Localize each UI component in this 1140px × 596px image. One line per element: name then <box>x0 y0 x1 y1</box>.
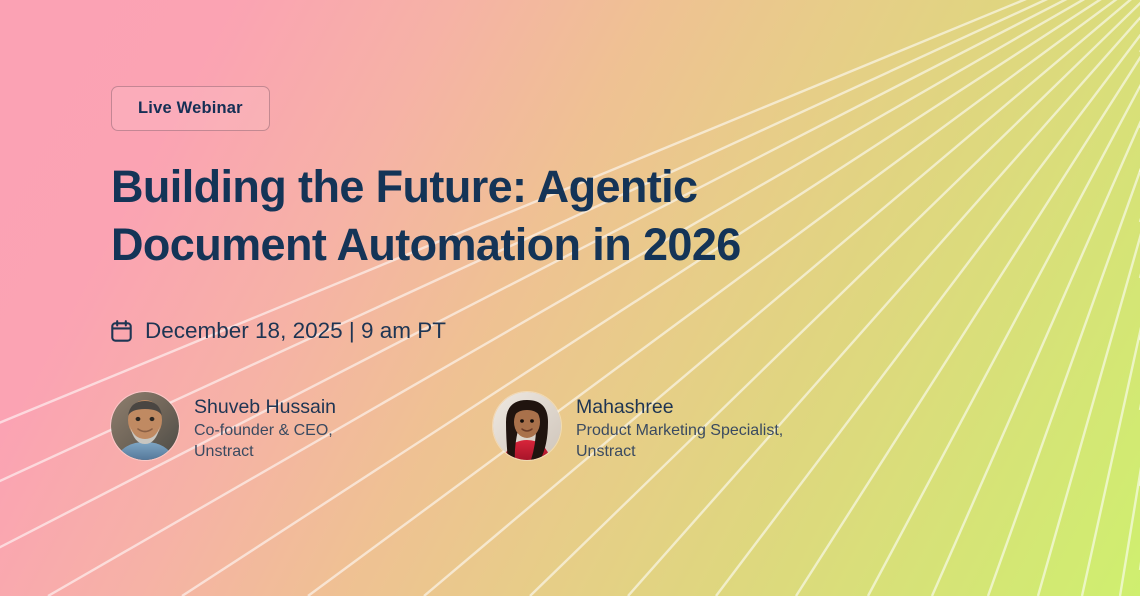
webinar-title-line-2: Document Automation in 2026 <box>111 216 911 274</box>
webinar-title-line-1: Building the Future: Agentic <box>111 158 911 216</box>
webinar-date-text: December 18, 2025 | 9 am PT <box>145 318 446 344</box>
speaker-avatar <box>111 392 179 460</box>
banner-content: Live Webinar Building the Future: Agenti… <box>111 0 1091 596</box>
speaker-text-block: Shuveb Hussain Co-founder & CEO, Unstrac… <box>194 392 336 462</box>
speaker-role-line-2: Unstract <box>194 441 336 462</box>
live-webinar-badge-label: Live Webinar <box>138 99 243 118</box>
speaker-avatar <box>493 392 561 460</box>
live-webinar-badge: Live Webinar <box>111 86 270 131</box>
webinar-title: Building the Future: Agentic Document Au… <box>111 158 911 274</box>
speaker-name: Shuveb Hussain <box>194 395 336 420</box>
webinar-banner: Live Webinar Building the Future: Agenti… <box>0 0 1140 596</box>
speakers-list: Shuveb Hussain Co-founder & CEO, Unstrac… <box>111 392 783 462</box>
speaker-role-line-1: Product Marketing Specialist, <box>576 420 783 441</box>
speaker-item: Shuveb Hussain Co-founder & CEO, Unstrac… <box>111 392 493 462</box>
calendar-icon <box>111 320 132 342</box>
webinar-date-row: December 18, 2025 | 9 am PT <box>111 318 446 344</box>
speaker-role-line-1: Co-founder & CEO, <box>194 420 336 441</box>
speaker-role-line-2: Unstract <box>576 441 783 462</box>
speaker-item: Mahashree Product Marketing Specialist, … <box>493 392 783 462</box>
speaker-name: Mahashree <box>576 395 783 420</box>
speaker-text-block: Mahashree Product Marketing Specialist, … <box>576 392 783 462</box>
